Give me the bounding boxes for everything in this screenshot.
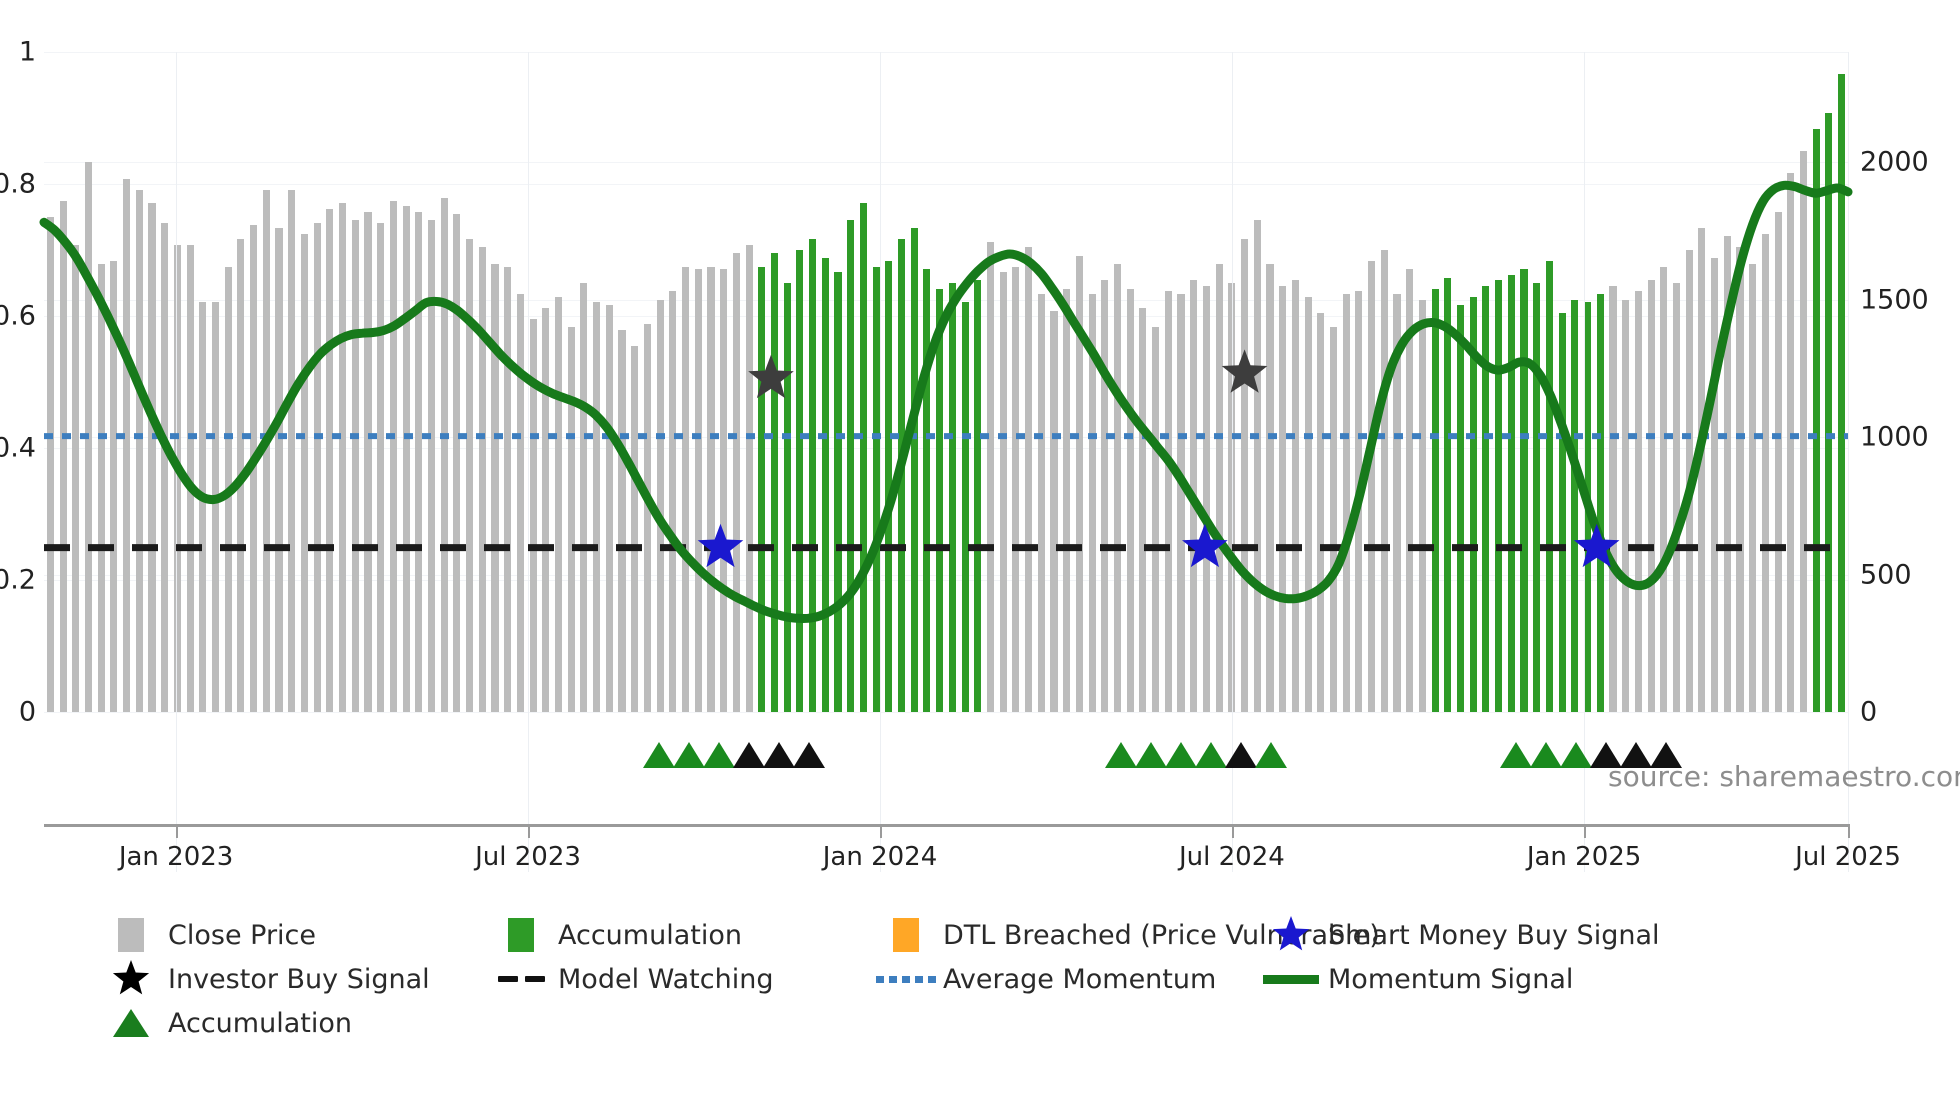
accumulation-triangle — [673, 742, 705, 768]
y-axis-right-tick-label: 0 — [1860, 697, 1877, 728]
x-axis-tick-label: Jul 2025 — [1795, 842, 1901, 872]
close-price-bar — [1101, 280, 1108, 712]
close-price-bar — [403, 206, 410, 712]
close-price-bar — [148, 203, 155, 712]
close-price-bar — [479, 247, 486, 712]
close-price-bar — [1012, 267, 1019, 713]
accumulation-bar — [936, 289, 943, 713]
close-price-bar — [669, 291, 676, 712]
close-price-bar — [288, 190, 295, 713]
legend-dashed-line-icon — [490, 960, 552, 998]
close-price-bar — [644, 324, 651, 712]
x-axis-tick-label: Jan 2024 — [823, 842, 938, 872]
close-price-bar — [428, 220, 435, 712]
close-price-bar — [1152, 327, 1159, 712]
accumulation-bar — [1444, 278, 1451, 713]
legend-item[interactable]: Accumulation — [490, 916, 742, 954]
accumulation-bar — [860, 203, 867, 712]
close-price-bar — [250, 225, 257, 712]
y-axis-left-tick-label: 0 — [0, 697, 36, 728]
watch-triangle — [733, 742, 765, 768]
accumulation-bar — [923, 269, 930, 712]
close-price-bar — [1711, 258, 1718, 712]
accumulation-bar — [1520, 269, 1527, 712]
close-price-bar — [1292, 280, 1299, 712]
accumulation-bar — [1546, 261, 1553, 712]
legend-dotted-line-icon — [875, 960, 937, 998]
accumulation-bar — [834, 272, 841, 712]
close-price-bar — [415, 212, 422, 713]
legend-item[interactable]: Momentum Signal — [1260, 960, 1573, 998]
accumulation-bar — [822, 258, 829, 712]
gridline-horizontal — [44, 162, 1848, 163]
legend-solid-line-icon — [1263, 975, 1319, 984]
close-price-bar — [1063, 289, 1070, 713]
legend-label: Close Price — [168, 920, 316, 951]
close-price-bar — [618, 330, 625, 712]
accumulation-bar — [1597, 294, 1604, 712]
y-axis-right-tick-label: 1500 — [1860, 284, 1929, 315]
close-price-bar — [1749, 264, 1756, 712]
close-price-bar — [1279, 286, 1286, 712]
y-axis-left-tick-label: 0.2 — [0, 565, 36, 596]
x-axis-tick-mark — [880, 824, 882, 838]
close-price-bar — [1190, 280, 1197, 712]
plot-inner: 10.80.60.40.202000150010005000 — [44, 52, 1848, 712]
close-price-bar — [136, 190, 143, 713]
close-price-bar — [1686, 250, 1693, 712]
close-price-bar — [1330, 327, 1337, 712]
close-price-bar — [453, 214, 460, 712]
close-price-bar — [682, 267, 689, 713]
close-price-bar — [707, 267, 714, 713]
close-price-bar — [301, 234, 308, 713]
x-axis-tick-label: Jan 2025 — [1527, 842, 1642, 872]
accumulation-bar — [1470, 297, 1477, 712]
close-price-bar — [1800, 151, 1807, 712]
close-price-bar — [1000, 272, 1007, 712]
legend-row: Close PriceAccumulationDTL Breached (Pri… — [100, 916, 1900, 954]
close-price-bar — [390, 201, 397, 713]
close-price-bar — [1076, 256, 1083, 713]
legend-row: Investor Buy SignalModel WatchingAverage… — [100, 960, 1900, 998]
close-price-bar — [1406, 269, 1413, 712]
accumulation-bar — [847, 220, 854, 712]
watch-triangle — [793, 742, 825, 768]
y-axis-right-tick-label: 500 — [1860, 559, 1912, 590]
legend-dashed-line-icon — [498, 976, 545, 982]
accumulation-bar — [784, 283, 791, 712]
close-price-bar — [237, 239, 244, 712]
close-price-bar — [364, 212, 371, 713]
accumulation-bar — [1457, 305, 1464, 712]
legend-item[interactable]: Average Momentum — [875, 960, 1216, 998]
close-price-bar — [47, 217, 54, 712]
accumulation-bar — [962, 302, 969, 712]
legend-label: Momentum Signal — [1328, 964, 1573, 995]
legend-solid-line-icon — [1260, 960, 1322, 998]
close-price-bar — [1114, 264, 1121, 712]
x-axis-tick-mark — [1232, 824, 1234, 838]
close-price-bar — [1787, 173, 1794, 712]
close-price-bar — [1381, 250, 1388, 712]
accumulation-bar — [796, 250, 803, 712]
legend-item[interactable]: Model Watching — [490, 960, 773, 998]
close-price-bar — [1165, 291, 1172, 712]
accumulation-bar — [1508, 275, 1515, 712]
accumulation-bar — [1838, 74, 1845, 712]
accumulation-bar — [1482, 286, 1489, 712]
close-price-bar — [1203, 286, 1210, 712]
accumulation-bar — [949, 283, 956, 712]
close-price-bar — [225, 267, 232, 713]
close-price-bar — [161, 223, 168, 713]
accumulation-bar — [758, 267, 765, 713]
legend-square-icon — [100, 916, 162, 954]
close-price-bar — [1775, 212, 1782, 713]
legend-label: Accumulation — [168, 1008, 352, 1039]
legend-label: Investor Buy Signal — [168, 964, 430, 995]
close-price-bar — [491, 264, 498, 712]
legend-dotted-line-icon — [876, 976, 936, 983]
accumulation-triangle — [1500, 742, 1532, 768]
close-price-bar — [72, 245, 79, 713]
close-price-bar — [1089, 294, 1096, 712]
close-price-bar — [110, 261, 117, 712]
x-axis-tick-label: Jan 2023 — [119, 842, 234, 872]
x-axis-line — [44, 824, 1848, 827]
legend-triangle-icon — [100, 1004, 162, 1042]
accumulation-bar — [1533, 283, 1540, 712]
close-price-bar — [733, 253, 740, 712]
close-price-bar — [504, 267, 511, 713]
chart-legend: Close PriceAccumulationDTL Breached (Pri… — [100, 916, 1900, 1048]
accumulation-bar — [1495, 280, 1502, 712]
close-price-bar — [1266, 264, 1273, 712]
legend-triangle-icon — [113, 1009, 149, 1037]
close-price-bar — [466, 239, 473, 712]
close-price-bar — [1139, 308, 1146, 712]
close-price-bar — [517, 294, 524, 712]
watch-triangle — [763, 742, 795, 768]
close-price-bar — [1241, 239, 1248, 712]
accumulation-bar — [809, 239, 816, 712]
legend-square-icon — [490, 916, 552, 954]
close-price-bar — [377, 223, 384, 713]
accumulation-bar — [974, 280, 981, 712]
close-price-bar — [199, 302, 206, 712]
legend-square-icon — [875, 916, 937, 954]
accumulation-triangle — [1135, 742, 1167, 768]
close-price-bar — [1216, 264, 1223, 712]
accumulation-bar — [771, 253, 778, 712]
close-price-bar — [1177, 294, 1184, 712]
legend-item[interactable]: Investor Buy Signal — [100, 960, 430, 998]
accumulation-triangle — [1560, 742, 1592, 768]
close-price-bar — [1127, 289, 1134, 713]
close-price-bar — [1724, 236, 1731, 712]
close-price-bar — [1673, 283, 1680, 712]
y-axis-left-tick-label: 0.8 — [0, 169, 36, 200]
accumulation-bar — [911, 228, 918, 712]
accumulation-bar — [1432, 289, 1439, 713]
accumulation-triangle — [643, 742, 675, 768]
x-axis-tick-mark — [528, 824, 530, 838]
close-price-bar — [530, 319, 537, 712]
close-price-bar — [1038, 294, 1045, 712]
close-price-bar — [85, 162, 92, 712]
gridline-horizontal — [44, 184, 1848, 185]
close-price-bar — [631, 346, 638, 712]
accumulation-bar — [1825, 113, 1832, 713]
close-price-bar — [1635, 291, 1642, 712]
accumulation-bar — [873, 267, 880, 713]
x-axis-tick-mark — [176, 824, 178, 838]
close-price-bar — [263, 190, 270, 713]
plot-area: 10.80.60.40.202000150010005000 — [44, 52, 1848, 712]
close-price-bar — [1622, 300, 1629, 713]
close-price-bar — [568, 327, 575, 712]
y-axis-left-tick-label: 0.4 — [0, 433, 36, 464]
accumulation-bar — [1571, 300, 1578, 713]
legend-label: Smart Money Buy Signal — [1328, 920, 1660, 951]
close-price-bar — [1698, 228, 1705, 712]
watch-triangle — [1225, 742, 1257, 768]
x-axis-tick-label: Jul 2024 — [1179, 842, 1285, 872]
accumulation-triangle — [1195, 742, 1227, 768]
close-price-bar — [1368, 261, 1375, 712]
close-price-bar — [1050, 311, 1057, 713]
legend-star-icon — [110, 959, 152, 999]
close-price-bar — [542, 308, 549, 712]
legend-label: Average Momentum — [943, 964, 1216, 995]
close-price-bar — [1254, 220, 1261, 712]
legend-swatch-icon — [893, 918, 919, 952]
close-price-bar — [1393, 294, 1400, 712]
close-price-bar — [339, 203, 346, 712]
close-price-bar — [593, 302, 600, 712]
accumulation-triangle — [1255, 742, 1287, 768]
close-price-bar — [1419, 300, 1426, 713]
close-price-bar — [657, 300, 664, 713]
y-axis-left-tick-label: 0.6 — [0, 301, 36, 332]
close-price-bar — [1660, 267, 1667, 713]
close-price-bar — [1762, 234, 1769, 713]
close-price-bar — [60, 201, 67, 713]
gridline-horizontal — [44, 52, 1848, 53]
close-price-bar — [1343, 294, 1350, 712]
close-price-bar — [1317, 313, 1324, 712]
close-price-bar — [314, 223, 321, 713]
accumulation-bar — [1559, 313, 1566, 712]
close-price-bar — [987, 242, 994, 712]
legend-label: Accumulation — [558, 920, 742, 951]
accumulation-bar — [898, 239, 905, 712]
close-price-bar — [580, 283, 587, 712]
close-price-bar — [441, 198, 448, 712]
legend-star-icon — [1260, 916, 1322, 954]
close-price-bar — [326, 209, 333, 712]
close-price-bar — [187, 245, 194, 713]
y-axis-left-tick-label: 1 — [0, 37, 36, 68]
accumulation-triangle — [703, 742, 735, 768]
accumulation-bar — [1813, 129, 1820, 712]
close-price-bar — [606, 305, 613, 712]
close-price-bar — [352, 220, 359, 712]
y-axis-right-tick-label: 1000 — [1860, 422, 1929, 453]
close-price-bar — [695, 269, 702, 712]
accumulation-triangle — [1530, 742, 1562, 768]
gridline-horizontal — [44, 712, 1848, 713]
close-price-bar — [1736, 247, 1743, 712]
legend-item[interactable]: Accumulation — [100, 1004, 352, 1042]
legend-swatch-icon — [118, 918, 144, 952]
legend-star-icon — [100, 960, 162, 998]
legend-swatch-icon — [508, 918, 534, 952]
x-axis-tick-mark — [1848, 824, 1850, 838]
close-price-bar — [746, 245, 753, 713]
close-price-bar — [555, 297, 562, 712]
y-axis-right-tick-label: 2000 — [1860, 147, 1929, 178]
legend-item[interactable]: Smart Money Buy Signal — [1260, 916, 1660, 954]
accumulation-triangle — [1165, 742, 1197, 768]
close-price-bar — [174, 245, 181, 713]
legend-item[interactable]: Close Price — [100, 916, 316, 954]
close-price-bar — [98, 264, 105, 712]
legend-star-icon — [1270, 915, 1312, 955]
close-price-bar — [1025, 247, 1032, 712]
chart-root: 10.80.60.40.202000150010005000 Jan 2023J… — [0, 0, 1960, 1102]
close-price-bar — [1355, 291, 1362, 712]
close-price-bar — [720, 269, 727, 712]
accumulation-bar — [885, 261, 892, 712]
legend-label: Model Watching — [558, 964, 773, 995]
accumulation-triangle — [1105, 742, 1137, 768]
close-price-bar — [275, 228, 282, 712]
close-price-bar — [1609, 286, 1616, 712]
source-attribution: source: sharemaestro.com — [1608, 760, 1960, 793]
x-axis-tick-mark — [1584, 824, 1586, 838]
x-axis-tick-label: Jul 2023 — [475, 842, 581, 872]
close-price-bar — [212, 302, 219, 712]
close-price-bar — [123, 179, 130, 713]
close-price-bar — [1305, 297, 1312, 712]
legend-row: Accumulation — [100, 1004, 1900, 1042]
close-price-bar — [1648, 280, 1655, 712]
